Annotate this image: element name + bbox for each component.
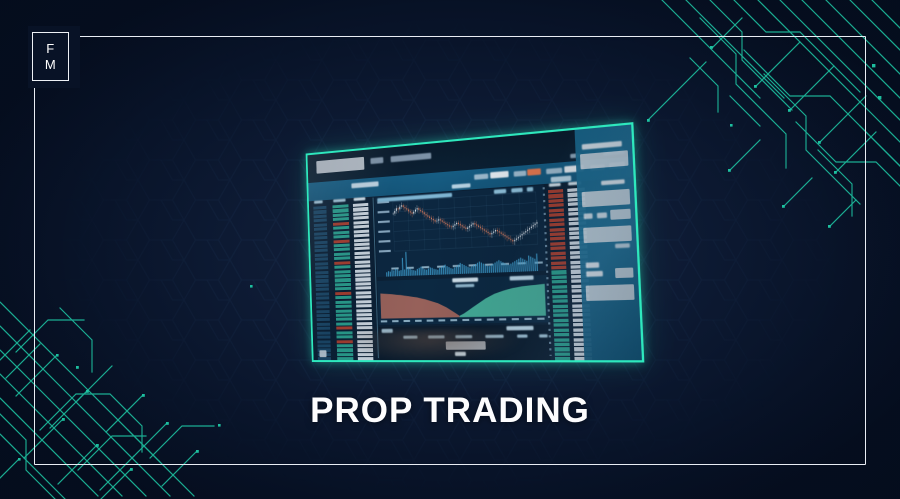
orderbook-row[interactable] [333, 239, 349, 243]
orderbook-row[interactable] [336, 313, 352, 316]
orderbook-row[interactable] [355, 260, 371, 264]
page-title: PROP TRADING [0, 391, 900, 431]
orderbook-row[interactable] [555, 352, 570, 355]
orderbook-row[interactable] [554, 348, 569, 351]
orderbook-row[interactable] [333, 222, 349, 226]
order-form-toggle[interactable] [584, 214, 593, 220]
orderbook-row[interactable] [336, 309, 352, 312]
orderbook-row[interactable] [354, 238, 370, 242]
ticker-label [514, 171, 526, 176]
chart-tool[interactable] [511, 188, 523, 193]
orderbook-row[interactable] [335, 296, 351, 299]
finance-magnates-logo: F M [32, 32, 69, 81]
orderbook-row[interactable] [335, 274, 351, 278]
orderbook-row[interactable] [355, 273, 371, 277]
orderbook-row[interactable] [317, 323, 330, 326]
orderbook-row[interactable] [551, 270, 566, 274]
orderbook-row[interactable] [553, 309, 568, 313]
orderbook-row[interactable] [551, 266, 567, 270]
reflection-hand [342, 328, 527, 360]
order-form-label [586, 262, 600, 268]
orderbook-row[interactable] [313, 206, 326, 210]
orderbook-row[interactable] [356, 282, 372, 286]
order-form-title [582, 141, 622, 150]
orderbook-row[interactable] [317, 331, 330, 334]
orderbook-row[interactable] [354, 229, 370, 233]
orderbook-row[interactable] [335, 278, 351, 282]
orderbook-row[interactable] [335, 300, 351, 303]
orderbook-row[interactable] [552, 294, 567, 298]
orderbook-row[interactable] [353, 212, 369, 216]
orderbook-row[interactable] [334, 270, 350, 274]
orderbook-row[interactable] [314, 223, 327, 227]
orderbook-row[interactable] [555, 357, 570, 360]
orderbook-row[interactable] [314, 240, 327, 244]
column-header [314, 200, 323, 203]
orderbook-row[interactable] [317, 327, 330, 330]
orderbook-row[interactable] [334, 265, 350, 269]
order-form-toggle[interactable] [597, 213, 606, 219]
orderbook-row[interactable] [335, 283, 351, 287]
orderbook-row[interactable] [334, 252, 350, 256]
logo-line-1: F [46, 41, 54, 56]
order-form-field[interactable] [582, 189, 630, 207]
orderbook-row[interactable] [317, 344, 330, 347]
orders-column-header [539, 334, 548, 338]
orderbook-row[interactable] [549, 213, 565, 217]
orderbook-row[interactable] [552, 299, 567, 303]
orderbook-row[interactable] [549, 203, 565, 207]
orderbook-row[interactable] [552, 290, 567, 294]
orderbook-row[interactable] [314, 227, 327, 231]
orderbook-row[interactable] [354, 234, 370, 238]
orderbook-row[interactable] [548, 189, 564, 193]
trading-terminal-screenshot [296, 142, 628, 358]
orderbook-row[interactable] [334, 261, 350, 265]
orderbook-row[interactable] [554, 333, 569, 337]
orderbook-row[interactable] [550, 251, 566, 255]
orderbook-row[interactable] [336, 327, 352, 330]
order-form-field[interactable] [580, 151, 628, 170]
orderbook-row[interactable] [553, 314, 568, 318]
orderbook-row[interactable] [333, 226, 349, 230]
orderbook-row[interactable] [549, 218, 565, 222]
orderbook-row[interactable] [551, 261, 567, 265]
orderbook-row[interactable] [335, 305, 351, 308]
order-form-field[interactable] [583, 225, 631, 243]
orderbook-row[interactable] [553, 304, 568, 308]
orderbook-row[interactable] [333, 235, 349, 239]
orderbook-row[interactable] [317, 336, 330, 339]
logo-line-2: M [45, 57, 56, 72]
orderbook-row[interactable] [549, 222, 565, 226]
orderbook-row[interactable] [333, 217, 349, 221]
orderbook-row[interactable] [313, 214, 326, 218]
orderbook-row[interactable] [314, 236, 327, 240]
orderbook-row[interactable] [357, 322, 373, 325]
orderbook-row[interactable] [554, 338, 569, 341]
chart-tool[interactable] [526, 187, 533, 192]
ticker-value [490, 170, 509, 178]
orderbook-row[interactable] [550, 237, 566, 241]
orderbook-row[interactable] [550, 227, 566, 231]
orderbook-row[interactable] [335, 287, 351, 291]
order-form-submit[interactable] [586, 284, 635, 301]
orderbook-row[interactable] [550, 246, 566, 250]
orderbook-row[interactable] [316, 310, 329, 313]
order-form-field[interactable] [610, 209, 631, 220]
orderbook-row[interactable] [354, 225, 370, 229]
orderbook-row[interactable] [551, 275, 566, 279]
orderbook-row[interactable] [548, 199, 564, 203]
orderbook-row[interactable] [552, 280, 567, 284]
orderbook-row[interactable] [316, 292, 329, 295]
orderbook-row[interactable] [356, 309, 372, 312]
orderbook-row[interactable] [315, 279, 328, 282]
order-form-field[interactable] [615, 268, 634, 278]
order-form-hint [615, 243, 630, 248]
orderbook-row[interactable] [314, 219, 327, 223]
orderbook-row[interactable] [550, 232, 566, 236]
orderbook-row[interactable] [315, 258, 328, 262]
orderbook-row[interactable] [355, 269, 371, 273]
orderbook-row[interactable] [552, 285, 567, 289]
order-form-label [586, 271, 603, 277]
orderbook-row[interactable] [316, 284, 329, 287]
orderbook-row[interactable] [354, 247, 370, 251]
orderbook-row[interactable] [336, 318, 352, 321]
orderbook-row[interactable] [357, 313, 373, 316]
orderbook-row[interactable] [335, 292, 351, 296]
orderbook-row[interactable] [551, 256, 567, 260]
status-indicator[interactable] [320, 351, 327, 358]
orderbook-row[interactable] [316, 314, 329, 317]
ticker-value-down [527, 168, 541, 175]
orderbook-row[interactable] [318, 357, 331, 360]
orderbook-row[interactable] [355, 278, 371, 282]
orderbook-row[interactable] [316, 305, 329, 308]
orderbook-row[interactable] [554, 328, 569, 332]
orderbook-row[interactable] [317, 340, 330, 343]
column-header [333, 199, 346, 203]
order-form-sidebar[interactable] [575, 125, 642, 361]
orderbook-row[interactable] [314, 232, 327, 236]
orderbook-row[interactable] [316, 301, 329, 304]
orderbook-row[interactable] [553, 323, 568, 327]
orderbook-row[interactable] [357, 317, 373, 320]
orderbook-row[interactable] [334, 257, 350, 261]
orderbook-row[interactable] [356, 295, 372, 299]
column-header [549, 183, 561, 187]
orderbook-row[interactable] [333, 230, 349, 234]
chart-tool[interactable] [494, 189, 506, 194]
column-header [354, 197, 366, 200]
orderbook-row[interactable] [315, 262, 328, 266]
terminal-menu-item[interactable] [370, 157, 383, 164]
orderbook-row[interactable] [334, 243, 350, 247]
orderbook-row[interactable] [313, 210, 326, 214]
orderbook-row[interactable] [334, 248, 350, 252]
orderbook-row[interactable] [550, 242, 566, 246]
orderbook-row[interactable] [315, 253, 328, 257]
orderbook-row[interactable] [355, 251, 371, 255]
orderbook-row[interactable] [356, 286, 372, 290]
orderbook-row[interactable] [315, 266, 328, 270]
orderbook-row[interactable] [548, 194, 564, 198]
orderbook-row[interactable] [317, 318, 330, 321]
orderbook-row[interactable] [356, 300, 372, 303]
orderbook-row[interactable] [316, 288, 329, 291]
orderbook-row[interactable] [353, 216, 369, 220]
orderbook-row[interactable] [549, 208, 565, 212]
orderbook-row[interactable] [356, 291, 372, 295]
orderbook-row[interactable] [357, 326, 373, 329]
orderbook-row[interactable] [354, 220, 370, 224]
orderbook-row[interactable] [553, 319, 568, 323]
orderbook-row[interactable] [316, 297, 329, 300]
orderbook-row[interactable] [315, 271, 328, 275]
orderbook-row[interactable] [314, 245, 327, 249]
poster-canvas: F M PROP TRADING [0, 0, 900, 499]
orderbook-row[interactable] [315, 275, 328, 279]
orderbook-row[interactable] [355, 264, 371, 268]
orderbook-row[interactable] [554, 343, 569, 346]
orderbook-row[interactable] [356, 304, 372, 307]
orderbook-row[interactable] [336, 322, 352, 325]
order-form-label [600, 179, 624, 186]
orderbook-row[interactable] [355, 256, 371, 260]
orderbook-row[interactable] [354, 242, 370, 246]
orderbook-row[interactable] [315, 249, 328, 253]
